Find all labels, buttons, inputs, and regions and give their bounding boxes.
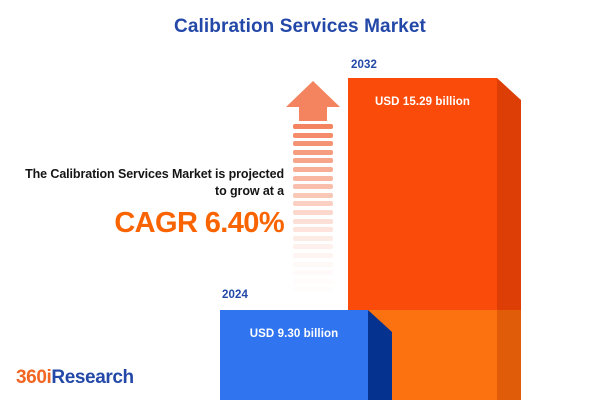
logo-suffix: Research: [51, 367, 133, 388]
brand-logo: 360iResearch: [16, 367, 134, 389]
bar-2032-side-upper: [497, 78, 521, 310]
arrow-head-icon: [285, 80, 341, 122]
bar-2024: [220, 310, 392, 400]
bar-label-2032: 2032: [351, 59, 377, 71]
bar-label-2024: 2024: [222, 289, 248, 301]
bar-value-2024: USD 9.30 billion: [220, 328, 368, 340]
bar-2032-side-lower: [497, 310, 521, 400]
page-title: Calibration Services Market: [0, 16, 600, 38]
bar-2032-front-upper: [348, 78, 497, 310]
statement-text: The Calibration Services Market is proje…: [24, 166, 284, 200]
infographic-canvas: Calibration Services Market The Calibrat…: [0, 0, 600, 400]
statement-block: The Calibration Services Market is proje…: [24, 166, 284, 240]
logo-prefix: 360i: [16, 367, 51, 388]
cagr-value: CAGR 6.40%: [24, 206, 284, 240]
bar-2024-side: [368, 310, 392, 400]
upward-growth-arrow-icon: [285, 80, 341, 295]
bar-value-2032: USD 15.29 billion: [348, 96, 497, 108]
arrow-stem-rungs: [293, 124, 333, 295]
bar-2024-front: [220, 310, 368, 400]
